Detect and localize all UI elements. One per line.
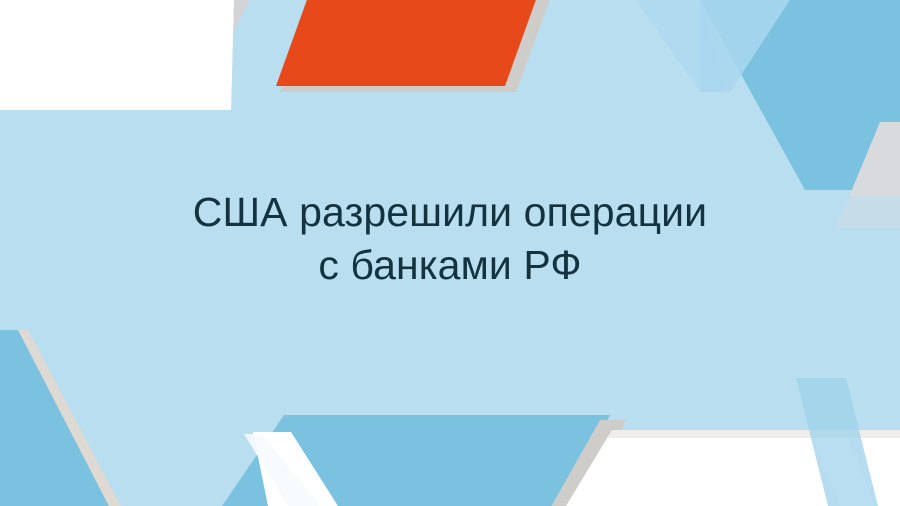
top-left-blue-sliver xyxy=(158,0,206,34)
top-left-white-parallelogram xyxy=(0,0,234,110)
bottom-right-blue-stripe-lower xyxy=(812,438,874,506)
headline-line-1: США разрешили операции xyxy=(0,186,900,239)
bottom-right-white-band xyxy=(566,430,900,506)
top-orange-shadow xyxy=(280,0,552,92)
headline-line-2: с банками РФ xyxy=(0,239,900,292)
news-cover-slide: США разрешили операции с банками РФ xyxy=(0,0,900,506)
top-orange-parallelogram xyxy=(276,0,538,86)
bottom-right-white-band-shadow xyxy=(608,430,900,438)
bottom-center-white-stripe xyxy=(253,432,338,506)
bottom-center-blue-parallelogram xyxy=(222,415,610,506)
top-left-white-parallelogram-tail xyxy=(120,0,234,110)
bottom-right-blue-stripe xyxy=(796,378,878,506)
bottom-center-white-stripe-edge xyxy=(244,434,320,506)
bottom-center-blue-shadow xyxy=(548,420,626,506)
bottom-left-blue-triangle xyxy=(0,330,116,506)
headline-block: США разрешили операции с банками РФ xyxy=(0,186,900,292)
top-right-medium-blue-wedge xyxy=(700,0,900,190)
top-right-light-overlay-secondary xyxy=(636,0,726,92)
bottom-left-gray-edge xyxy=(18,330,124,506)
top-left-gray-band xyxy=(150,0,252,94)
top-right-light-overlay xyxy=(700,0,790,92)
